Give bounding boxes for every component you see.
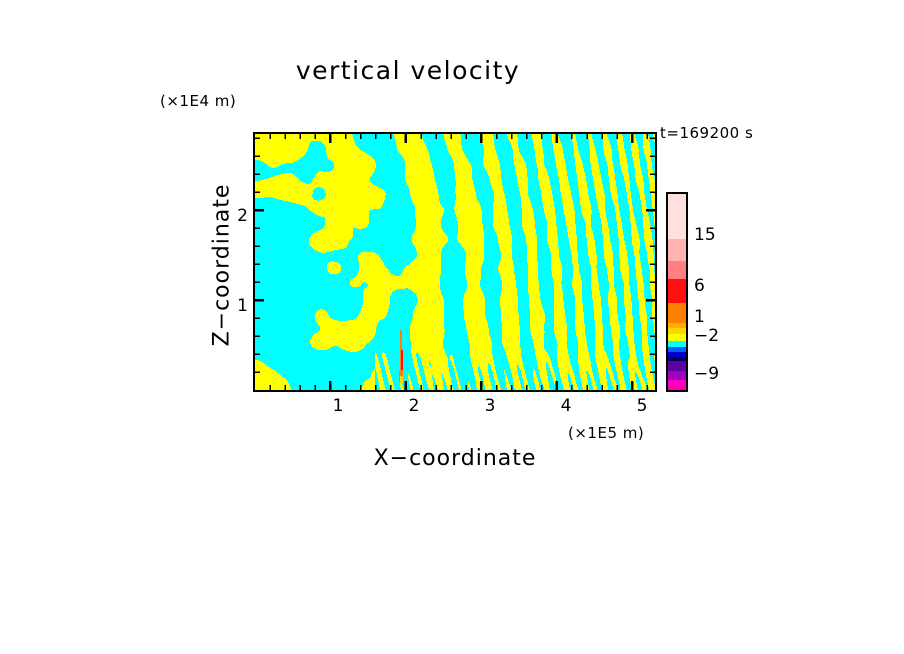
contour-accent-filament — [400, 376, 403, 384]
timestamp-annotation: t=169200 s — [660, 124, 753, 142]
y-axis-unit-label: (×1E4 m) — [160, 92, 236, 110]
x-tick-label: 5 — [627, 396, 657, 416]
contour-plot-area[interactable] — [253, 132, 657, 392]
colorbar-band — [668, 371, 686, 380]
colorbar-band — [668, 386, 686, 390]
y-tick-label: 1 — [226, 296, 248, 316]
y-tick-label: 2 — [226, 206, 248, 226]
colorbar-band — [668, 279, 686, 303]
contour-field — [255, 134, 655, 390]
colorbar-band — [668, 194, 686, 239]
colorbar-label: 1 — [694, 307, 705, 327]
colorbar[interactable] — [666, 192, 688, 392]
colorbar-band — [668, 361, 686, 372]
page-title: vertical velocity — [0, 56, 860, 85]
y-axis-title: Z−coordinate — [210, 140, 234, 390]
x-tick-label: 2 — [399, 396, 429, 416]
x-tick-label: 4 — [551, 396, 581, 416]
x-axis-title: X−coordinate — [253, 446, 657, 471]
colorbar-label: 6 — [694, 276, 705, 296]
x-axis-unit-label: (×1E5 m) — [568, 424, 644, 442]
x-tick-label: 3 — [475, 396, 505, 416]
colorbar-label: −9 — [694, 364, 719, 384]
colorbar-label: 15 — [694, 225, 716, 245]
colorbar-band — [668, 261, 686, 280]
colorbar-band — [668, 239, 686, 261]
colorbar-band — [668, 334, 686, 341]
colorbar-band — [668, 303, 686, 324]
colorbar-label: −2 — [694, 326, 719, 346]
x-tick-label: 1 — [323, 396, 353, 416]
